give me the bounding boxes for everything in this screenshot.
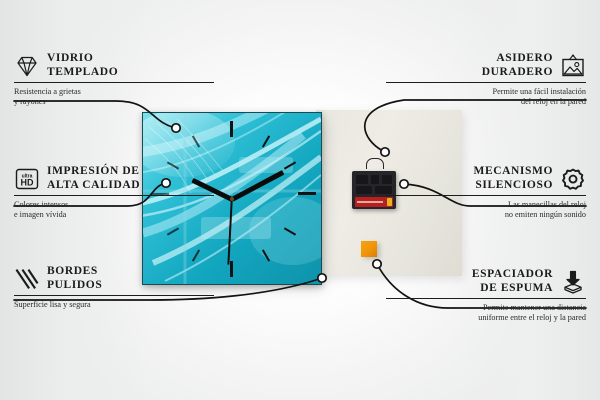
feature-divider [386, 298, 586, 299]
feature-title: VIDRIO TEMPLADO [47, 52, 118, 79]
feature-description: Superficie lisa y segura [14, 300, 214, 310]
feature-description: Colores intensos e imagen vívida [14, 200, 214, 220]
feature-divider [386, 195, 586, 196]
feature-divider [14, 195, 214, 196]
ultra-hd-icon: ultra HD [14, 167, 40, 191]
feature-impresion-alta-calidad: ultra HD IMPRESIÓN DE ALTA CALIDAD Color… [14, 165, 214, 220]
connector-node [373, 260, 381, 268]
feature-mecanismo-silencioso: MECANISMO SILENCIOSO Las manecillas del … [386, 165, 586, 220]
feature-espaciador-de-espuma: ESPACIADOR DE ESPUMA Permite mantener un… [386, 268, 586, 323]
feature-title: BORDES PULIDOS [47, 265, 102, 292]
wall-hanger-icon [560, 54, 586, 78]
polished-edges-icon [14, 267, 40, 291]
feature-bordes-pulidos: BORDES PULIDOS Superficie lisa y segura [14, 265, 214, 310]
feature-title: ASIDERO DURADERO [482, 52, 553, 79]
connector-node [172, 124, 180, 132]
feature-divider [386, 82, 586, 83]
connector-node [381, 148, 389, 156]
feature-asidero-duradero: ASIDERO DURADERO Permite una fácil insta… [386, 52, 586, 107]
feature-divider [14, 295, 214, 296]
feature-description: Permite una fácil instalación del reloj … [386, 87, 586, 107]
feature-description: Resistencia a grietas y rayones [14, 87, 214, 107]
infographic-canvas: VIDRIO TEMPLADO Resistencia a grietas y … [0, 0, 600, 400]
feature-description: Las manecillas del reloj no emiten ningú… [386, 200, 586, 220]
feature-divider [14, 82, 214, 83]
feature-title: ESPACIADOR DE ESPUMA [472, 268, 553, 295]
connector-node [318, 274, 326, 282]
foam-spacer-icon [560, 270, 586, 294]
svg-text:HD: HD [21, 177, 34, 187]
feature-description: Permite mantener una distancia uniforme … [386, 303, 586, 323]
feature-vidrio-templado: VIDRIO TEMPLADO Resistencia a grietas y … [14, 52, 214, 107]
feature-title: MECANISMO SILENCIOSO [473, 165, 553, 192]
feature-title: IMPRESIÓN DE ALTA CALIDAD [47, 165, 140, 192]
diamond-icon [14, 54, 40, 78]
gear-icon [560, 167, 586, 191]
